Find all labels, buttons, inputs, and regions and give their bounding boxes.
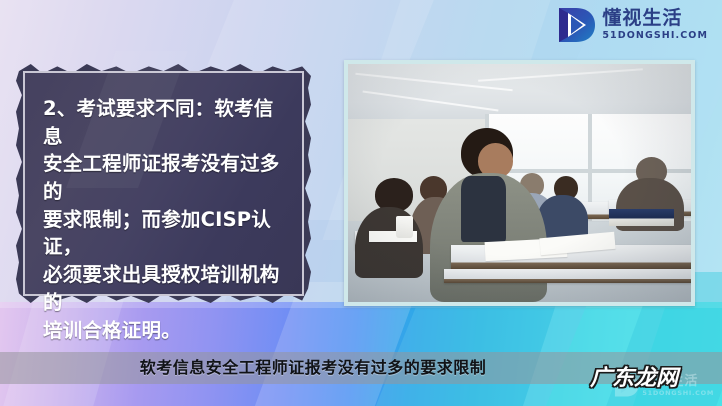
video-frame: 2、考试要求不同：软考信息 安全工程师证报考没有过多的 要求限制；而参加CISP… [0, 0, 722, 406]
corner-watermark: 懂视生活 51DONGSHI.COM 广东龙网 [590, 354, 714, 400]
logo-chinese-name: 懂视生活 [602, 9, 708, 28]
watermark-main-text: 广东龙网 [590, 360, 678, 392]
slide-body-text: 2、考试要求不同：软考信息 安全工程师证报考没有过多的 要求限制；而参加CISP… [43, 95, 292, 344]
brand-logo[interactable]: 懂视生活 51DONGSHI.COM [556, 6, 708, 44]
photo-vignette [348, 64, 691, 302]
logo-domain: 51DONGSHI.COM [602, 31, 708, 41]
panel-body: 2、考试要求不同：软考信息 安全工程师证报考没有过多的 要求限制；而参加CISP… [23, 71, 304, 296]
classroom-exam-photo [348, 64, 691, 302]
photo-frame [344, 60, 695, 306]
content-panel: 2、考试要求不同：软考信息 安全工程师证报考没有过多的 要求限制；而参加CISP… [16, 64, 311, 303]
logo-wordmark: 懂视生活 51DONGSHI.COM [602, 9, 708, 41]
play-d-logo-icon [556, 6, 596, 44]
